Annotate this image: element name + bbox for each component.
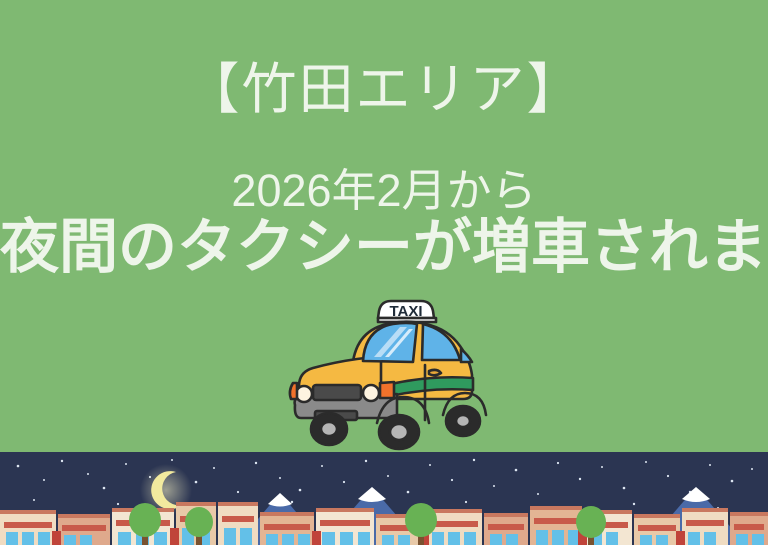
taxi-side-window-rear bbox=[461, 349, 472, 362]
taxi-hub-rear bbox=[456, 415, 470, 427]
poster-canvas: 【竹田エリア】 2026年2月から 夜間のタクシーが増車されます bbox=[0, 0, 768, 545]
taxi-grille bbox=[313, 385, 361, 400]
taxi-headlight-right bbox=[363, 385, 379, 401]
taxi-illustration: TAXI bbox=[277, 283, 507, 453]
taxi-signal-left bbox=[290, 383, 297, 399]
night-band-svg bbox=[0, 452, 768, 545]
taxi-svg: TAXI bbox=[277, 283, 507, 453]
night-cityscape-band bbox=[0, 452, 768, 545]
taxi-door-handle bbox=[429, 370, 441, 375]
poster-subline: 2026年2月から bbox=[0, 168, 768, 213]
taxi-hub-front-left bbox=[321, 422, 337, 436]
taxi-headlight-left bbox=[296, 386, 312, 402]
taxi-sign-label: TAXI bbox=[389, 303, 422, 320]
taxi-hub-front-right bbox=[390, 424, 408, 440]
page-title: 【竹田エリア】 bbox=[0, 62, 768, 117]
poster-mainline: 夜間のタクシーが増車されます bbox=[0, 218, 768, 277]
taxi-signal-right bbox=[380, 382, 394, 398]
